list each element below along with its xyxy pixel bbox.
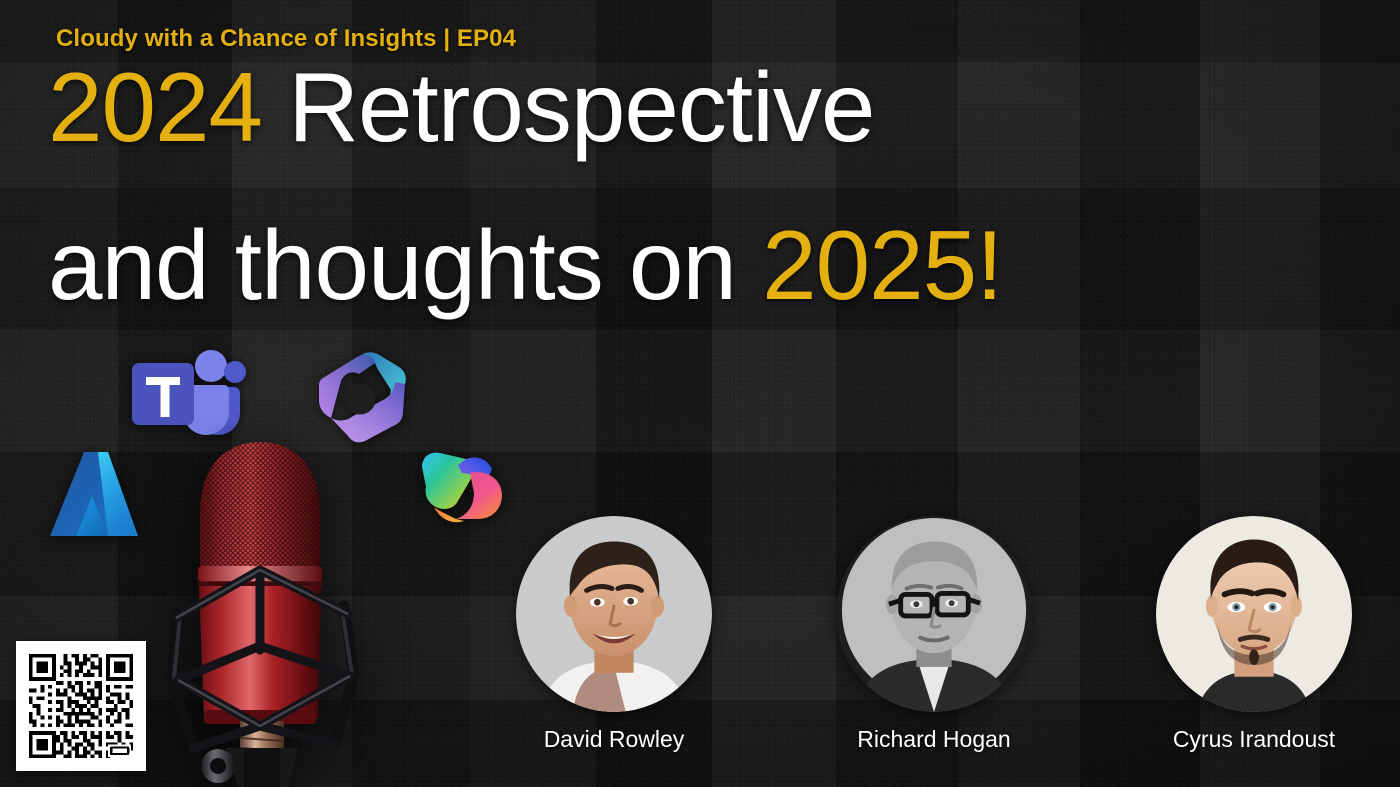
avatar-david-rowley: [516, 516, 712, 712]
speakers-row: David Rowley: [494, 516, 1374, 766]
avatar-cyrus-irandoust: [1156, 516, 1352, 712]
speaker-card-richard-hogan: Richard Hogan: [814, 516, 1054, 753]
page-title: 2024 Retrospective and thoughts on 2025!: [48, 58, 1378, 316]
title-retrospective: Retrospective: [262, 52, 874, 162]
title-year-2024: 2024: [48, 52, 262, 162]
title-and-thoughts-on: and thoughts on: [48, 210, 762, 320]
avatar-photo: [516, 516, 712, 712]
avatar-photo: [836, 516, 1032, 712]
qr-center-logo: [108, 745, 131, 757]
qr-code[interactable]: [16, 641, 146, 771]
microsoft-azure-icon: [46, 444, 142, 544]
speaker-name: David Rowley: [544, 726, 685, 753]
qr-code-image: [25, 650, 137, 762]
speaker-card-david-rowley: David Rowley: [494, 516, 734, 753]
series-episode-label: Cloudy with a Chance of Insights | EP04: [56, 25, 516, 53]
microphone-image: [148, 418, 438, 787]
avatar-richard-hogan: [836, 516, 1032, 712]
avatar-photo: [1156, 516, 1352, 712]
speaker-card-cyrus-irandoust: Cyrus Irandoust: [1134, 516, 1374, 753]
speaker-name: Richard Hogan: [857, 726, 1010, 753]
speaker-name: Cyrus Irandoust: [1173, 726, 1335, 753]
title-year-2025: 2025!: [762, 210, 1002, 320]
title-slide: Cloudy with a Chance of Insights | EP04 …: [0, 0, 1400, 787]
